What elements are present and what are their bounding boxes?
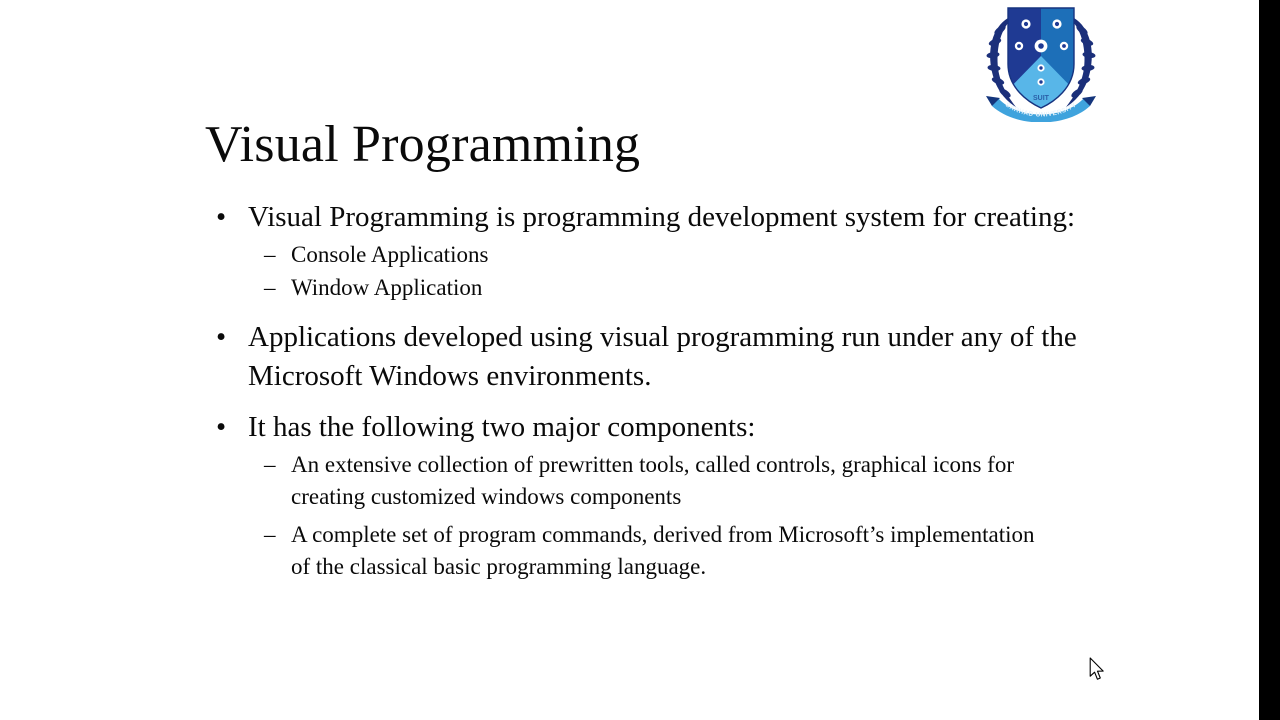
sub-bullet-item: – Console Applications [205, 239, 1105, 271]
bullet-marker: • [205, 198, 248, 237]
sub-bullet-marker: – [205, 519, 291, 551]
sub-bullet-text: Console Applications [291, 239, 1036, 271]
slide-body: • Visual Programming is programming deve… [205, 198, 1105, 587]
bullet-item: • Applications developed using visual pr… [205, 318, 1105, 396]
bullet-item: • Visual Programming is programming deve… [205, 198, 1105, 237]
slide-viewport: SUIT SARHAD UNIVERSITY Visual Programmin… [0, 0, 1280, 720]
sub-bullet-item: – A complete set of program commands, de… [205, 519, 1105, 583]
sub-bullet-item: – Window Application [205, 272, 1105, 304]
bullet-marker: • [205, 318, 248, 357]
bullet-text: It has the following two major component… [248, 408, 1083, 447]
bullet-text: Applications developed using visual prog… [248, 318, 1083, 396]
letterbox-bar-right [1259, 0, 1280, 720]
sub-bullet-text: A complete set of program commands, deri… [291, 519, 1036, 583]
sub-bullet-marker: – [205, 239, 291, 271]
sub-bullet-item: – An extensive collection of prewritten … [205, 449, 1105, 513]
bullet-text: Visual Programming is programming develo… [248, 198, 1083, 237]
sub-bullet-marker: – [205, 272, 291, 304]
sub-bullet-marker: – [205, 449, 291, 481]
sub-bullet-list: – An extensive collection of prewritten … [205, 449, 1105, 583]
sub-bullet-text: An extensive collection of prewritten to… [291, 449, 1036, 513]
spacer [205, 398, 1105, 408]
crest-acronym: SUIT [1033, 95, 1050, 102]
bullet-marker: • [205, 408, 248, 447]
university-crest-icon: SUIT SARHAD UNIVERSITY [978, 2, 1104, 122]
sub-bullet-list: – Console Applications – Window Applicat… [205, 239, 1105, 304]
spacer [205, 308, 1105, 318]
bullet-item: • It has the following two major compone… [205, 408, 1105, 447]
sub-bullet-text: Window Application [291, 272, 1036, 304]
slide-title: Visual Programming [205, 117, 640, 173]
slide-canvas: SUIT SARHAD UNIVERSITY Visual Programmin… [0, 0, 1259, 720]
